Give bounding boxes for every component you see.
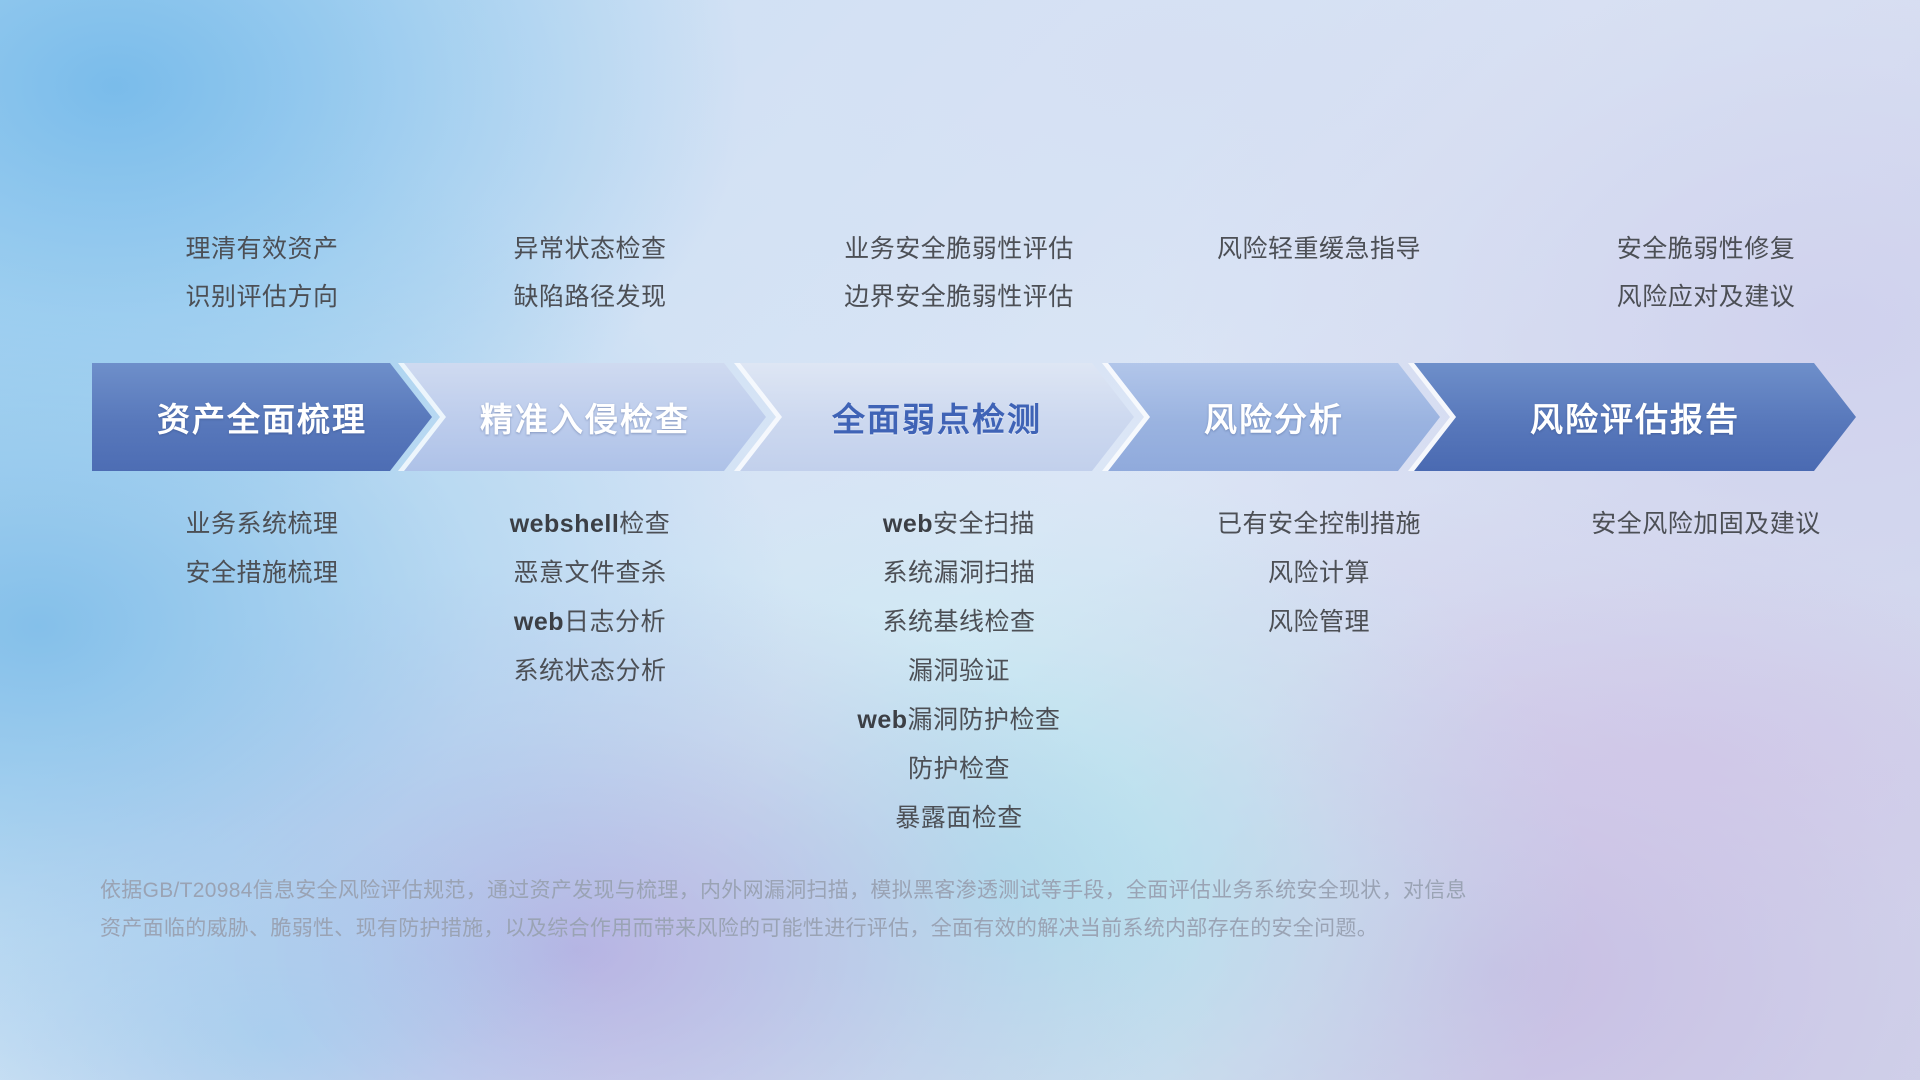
item-text: 安全措施梳理 [185,559,338,587]
list-item: 风险管理 [1268,598,1370,647]
item-text: 暴露面检查 [895,804,1023,832]
footer-line-1: 依据GB/T20984信息安全风险评估规范，通过资产发现与梳理，内外网漏洞扫描，… [100,872,1620,910]
top-col-4: 风险轻重缓急指导 [1154,225,1484,345]
item-text: 系统漏洞扫描 [882,559,1035,587]
item-text: 检查 [619,510,670,538]
item-text: 已有安全控制措施 [1217,510,1421,538]
stage-arrow-banner: 资产全面梳理 精准入侵检查 全面弱点检测 风险分析 风险评估报告 [92,363,1856,471]
list-item: 业务系统梳理 [185,500,338,549]
item-text: 安全扫描 [933,510,1035,538]
item-text: 日志分析 [564,608,666,636]
item-lead: webshell [510,510,620,538]
list-item: 防护检查 [908,745,1010,794]
stage-arrow-label: 风险分析 [1204,393,1344,441]
item-text: 漏洞验证 [908,657,1010,685]
top-item: 业务安全脆弱性评估 [844,225,1074,273]
item-lead: web [514,608,564,636]
stage-arrow-label: 资产全面梳理 [157,393,367,441]
bottom-col-3: web安全扫描 系统漏洞扫描 系统基线检查 漏洞验证 web漏洞防护检查 防护检… [768,500,1150,843]
list-item: webshell检查 [510,500,671,549]
list-item: web漏洞防护检查 [857,696,1060,745]
top-item: 理清有效资产 [185,225,338,273]
stage-arrow-1[interactable]: 资产全面梳理 [92,363,432,471]
list-item: 已有安全控制措施 [1217,500,1421,549]
list-item: 系统状态分析 [513,647,666,696]
stage-arrow-4[interactable]: 风险分析 [1108,363,1440,471]
list-item: 恶意文件查杀 [513,549,666,598]
bottom-col-1: 业务系统梳理 安全措施梳理 [92,500,432,843]
top-col-1: 理清有效资产 识别评估方向 [92,225,432,345]
footer-description: 依据GB/T20984信息安全风险评估规范，通过资产发现与梳理，内外网漏洞扫描，… [100,872,1620,948]
list-item: 安全措施梳理 [185,549,338,598]
item-text: 恶意文件查杀 [513,559,666,587]
bottom-col-4: 已有安全控制措施 风险计算 风险管理 [1154,500,1484,843]
stage-arrow-label: 全面弱点检测 [832,393,1042,441]
item-text: 漏洞防护检查 [908,706,1061,734]
top-item: 风险应对及建议 [1617,273,1796,321]
list-item: 系统基线检查 [882,598,1035,647]
top-item: 边界安全脆弱性评估 [844,273,1074,321]
stage-arrow-label: 风险评估报告 [1530,393,1740,441]
item-lead: web [857,706,907,734]
stage-arrow-5[interactable]: 风险评估报告 [1414,363,1856,471]
top-item: 识别评估方向 [185,273,338,321]
bottom-labels-row: 业务系统梳理 安全措施梳理 webshell检查 恶意文件查杀 web日志分析 … [0,500,1920,843]
list-item: 安全风险加固及建议 [1591,500,1821,549]
top-labels-row: 理清有效资产 识别评估方向 异常状态检查 缺陷路径发现 业务安全脆弱性评估 边界… [0,225,1920,345]
top-item: 缺陷路径发现 [513,273,666,321]
top-col-3: 业务安全脆弱性评估 边界安全脆弱性评估 [768,225,1150,345]
item-text: 业务系统梳理 [185,510,338,538]
top-col-2: 异常状态检查 缺陷路径发现 [420,225,760,345]
top-item: 安全脆弱性修复 [1617,225,1796,273]
item-text: 防护检查 [908,755,1010,783]
top-col-5: 安全脆弱性修复 风险应对及建议 [1506,225,1906,345]
item-text: 风险管理 [1268,608,1370,636]
item-text: 系统状态分析 [513,657,666,685]
list-item: 系统漏洞扫描 [882,549,1035,598]
item-text: 风险计算 [1268,559,1370,587]
list-item: web安全扫描 [883,500,1035,549]
list-item: 漏洞验证 [908,647,1010,696]
list-item: 风险计算 [1268,549,1370,598]
bottom-col-5: 安全风险加固及建议 [1506,500,1906,843]
stage-arrow-2[interactable]: 精准入侵检查 [404,363,766,471]
item-text: 系统基线检查 [882,608,1035,636]
risk-assessment-flow-diagram: 理清有效资产 识别评估方向 异常状态检查 缺陷路径发现 业务安全脆弱性评估 边界… [0,0,1920,1080]
item-lead: web [883,510,933,538]
top-item: 异常状态检查 [513,225,666,273]
list-item: 暴露面检查 [895,794,1023,843]
list-item: web日志分析 [514,598,666,647]
item-text: 安全风险加固及建议 [1591,510,1821,538]
stage-arrow-label: 精准入侵检查 [480,393,690,441]
top-item: 风险轻重缓急指导 [1217,225,1421,273]
bottom-col-2: webshell检查 恶意文件查杀 web日志分析 系统状态分析 [420,500,760,843]
stage-arrow-3[interactable]: 全面弱点检测 [740,363,1134,471]
footer-line-2: 资产面临的威胁、脆弱性、现有防护措施，以及综合作用而带来风险的可能性进行评估，全… [100,910,1620,948]
